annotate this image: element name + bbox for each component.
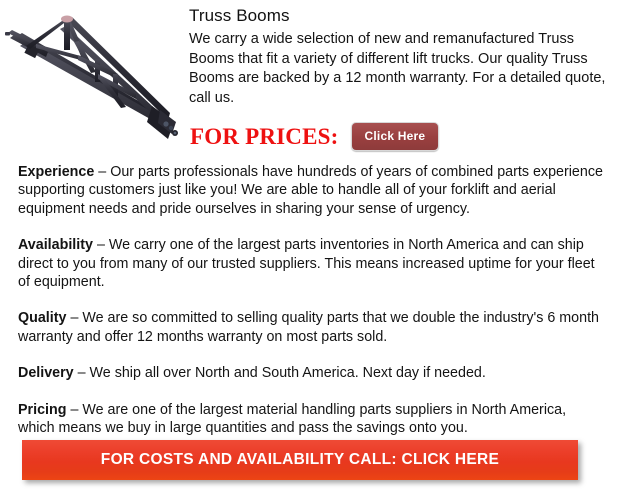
truss-boom-illustration: [0, 2, 190, 160]
feature-label: Availability: [18, 237, 93, 253]
truss-boom-image: [0, 2, 190, 160]
feature-label: Quality: [18, 310, 66, 326]
feature-text: We ship all over North and South America…: [90, 365, 486, 381]
cta-call-button[interactable]: FOR COSTS AND AVAILABILITY CALL: CLICK H…: [22, 440, 578, 480]
feature-availability: Availability – We carry one of the large…: [18, 236, 603, 291]
feature-text: We are one of the largest material handl…: [18, 402, 566, 436]
for-prices-label: FOR PRICES:: [190, 124, 339, 150]
feature-label: Experience: [18, 164, 94, 180]
feature-dash: –: [94, 164, 110, 180]
feature-label: Pricing: [18, 402, 66, 418]
cta-banner-wrapper: FOR COSTS AND AVAILABILITY CALL: CLICK H…: [22, 440, 578, 480]
product-description: We carry a wide selection of new and rem…: [189, 30, 609, 108]
feature-label: Delivery: [18, 365, 74, 381]
page-title: Truss Booms: [189, 6, 609, 26]
feature-dash: –: [66, 402, 82, 418]
feature-dash: –: [66, 310, 82, 326]
hero-text-block: Truss Booms We carry a wide selection of…: [189, 6, 609, 108]
features-list: Experience – Our parts professionals hav…: [18, 163, 603, 437]
feature-quality: Quality – We are so committed to selling…: [18, 309, 603, 346]
feature-dash: –: [74, 365, 90, 381]
click-here-button[interactable]: Click Here: [351, 122, 440, 151]
feature-dash: –: [93, 237, 109, 253]
feature-experience: Experience – Our parts professionals hav…: [18, 163, 603, 218]
hero-section: Truss Booms We carry a wide selection of…: [0, 0, 619, 160]
for-prices-row: FOR PRICES: Click Here: [190, 122, 439, 151]
feature-text: We are so committed to selling quality p…: [18, 310, 599, 344]
feature-pricing: Pricing – We are one of the largest mate…: [18, 401, 603, 438]
feature-delivery: Delivery – We ship all over North and So…: [18, 364, 603, 382]
